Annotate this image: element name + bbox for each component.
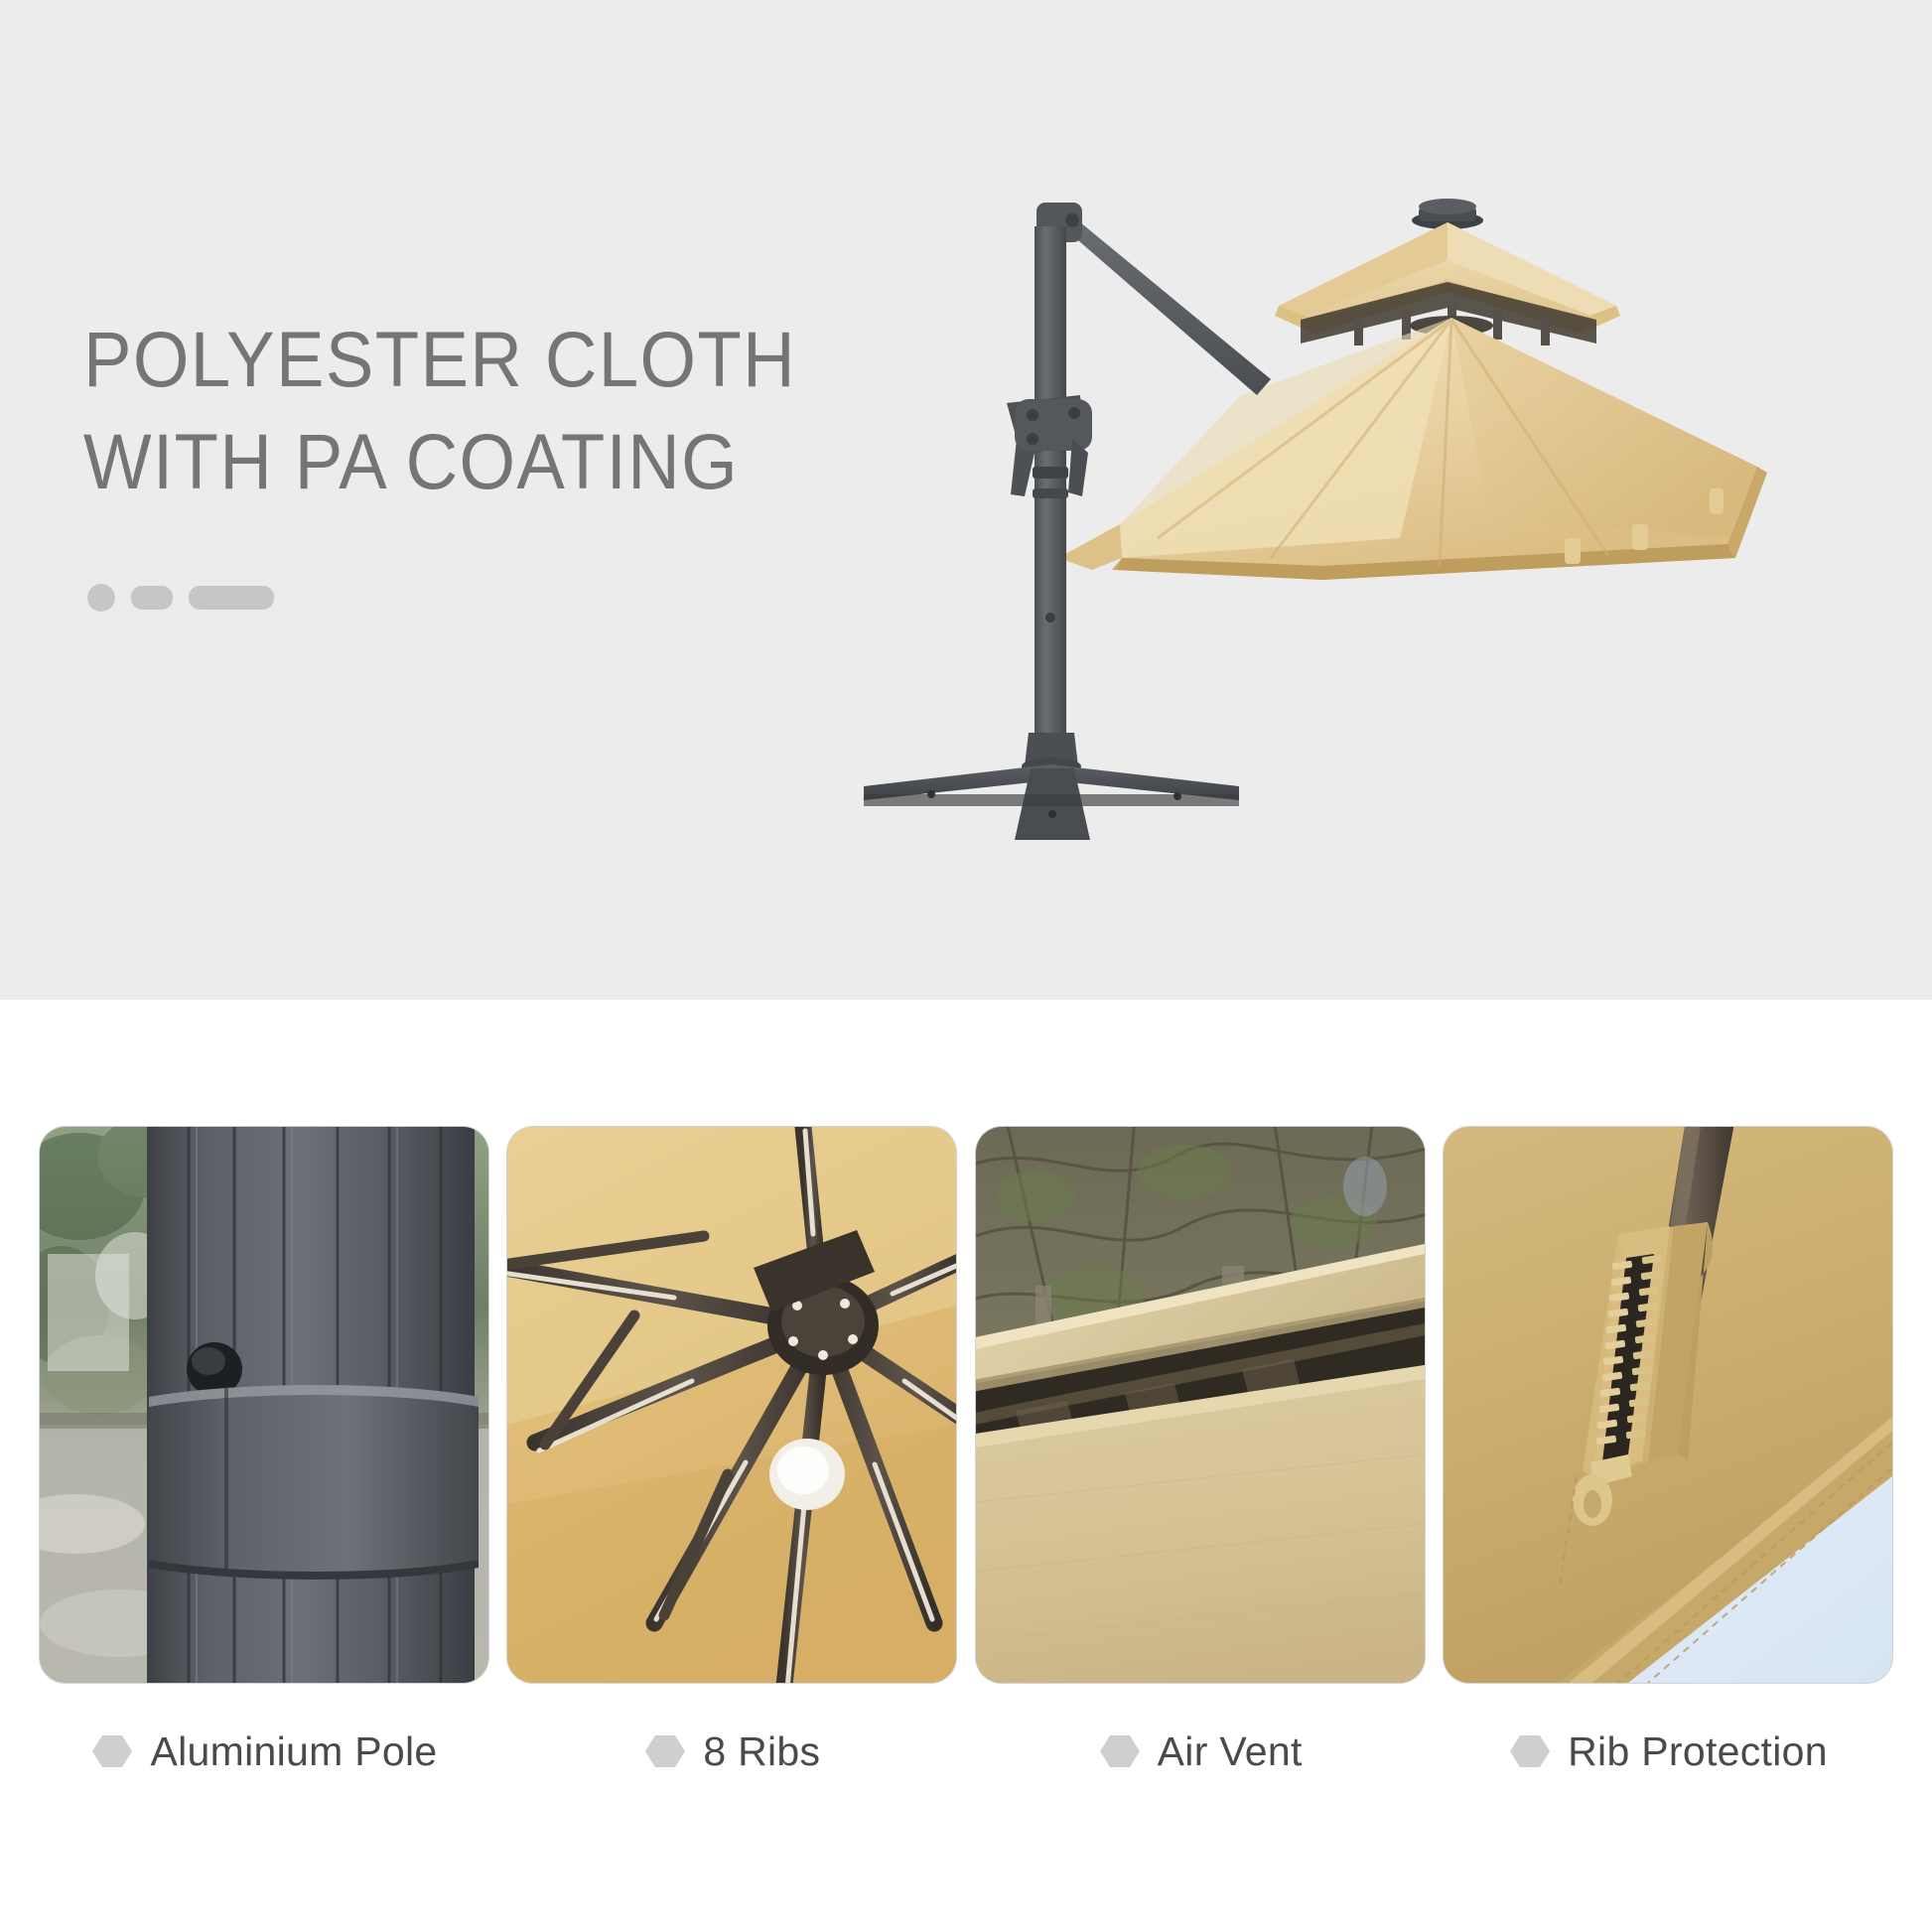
deco-circle-icon xyxy=(87,584,115,612)
headline-line-2: WITH PA COATING xyxy=(83,411,997,513)
hexagon-icon xyxy=(1098,1729,1142,1773)
thumb-air-vent-image xyxy=(976,1127,1425,1683)
thumb-air-vent[interactable] xyxy=(976,1127,1425,1683)
thumb-8-ribs-image xyxy=(507,1127,956,1683)
caption-aluminium-pole: Aluminium Pole xyxy=(40,1707,488,1796)
thumb-rib-protection[interactable] xyxy=(1444,1127,1892,1683)
deco-long-pill-icon xyxy=(189,586,274,610)
thumb-8-ribs[interactable] xyxy=(507,1127,956,1683)
hexagon-icon xyxy=(643,1729,687,1773)
feature-thumbnails xyxy=(40,1127,1892,1683)
thumb-aluminium-pole-image xyxy=(40,1127,488,1683)
page-title: POLYESTER CLOTHWITH PA COATING xyxy=(83,309,997,512)
caption-label: Rib Protection xyxy=(1568,1731,1828,1772)
feature-captions: Aluminium Pole 8 Ribs Air Vent Rib Prote… xyxy=(40,1707,1892,1796)
product-infographic: POLYESTER CLOTHWITH PA COATING xyxy=(0,0,1932,1932)
deco-pills xyxy=(87,584,274,612)
hexagon-icon xyxy=(1508,1729,1552,1773)
headline-line-1: POLYESTER CLOTH xyxy=(83,315,796,403)
caption-air-vent: Air Vent xyxy=(976,1707,1425,1796)
features-section: Aluminium Pole 8 Ribs Air Vent Rib Prote… xyxy=(0,1000,1932,1932)
thumb-rib-protection-image xyxy=(1444,1127,1892,1683)
caption-rib-protection: Rib Protection xyxy=(1444,1707,1892,1796)
cantilever-umbrella-photo xyxy=(973,169,1787,903)
deco-small-pill-icon xyxy=(131,586,173,610)
caption-label: Air Vent xyxy=(1158,1731,1303,1772)
caption-8-ribs: 8 Ribs xyxy=(507,1707,956,1796)
hero-section: POLYESTER CLOTHWITH PA COATING xyxy=(0,0,1932,1000)
caption-label: 8 Ribs xyxy=(703,1731,820,1772)
thumb-aluminium-pole[interactable] xyxy=(40,1127,488,1683)
caption-label: Aluminium Pole xyxy=(150,1731,437,1772)
hexagon-icon xyxy=(90,1729,134,1773)
